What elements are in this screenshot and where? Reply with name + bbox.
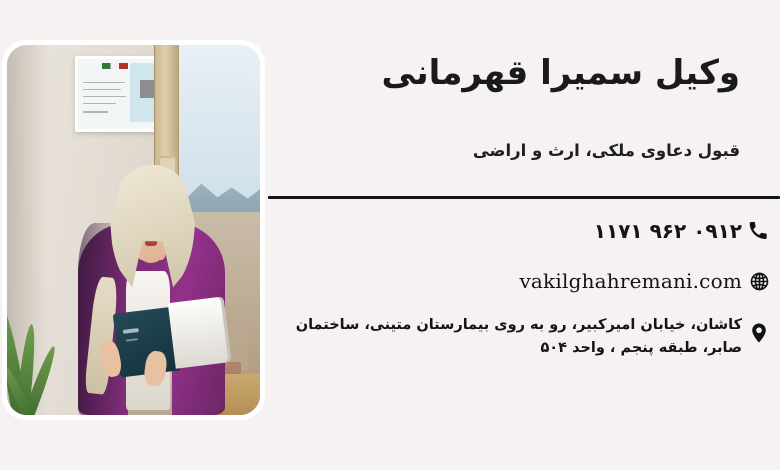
card-content: وکیل سمیرا قهرمانی قبول دعاوی ملکی، ارث … — [268, 0, 780, 470]
contact-row-phone[interactable]: ۰۹۱۲ ۹۶۲ ۱۱۷۱ — [268, 214, 780, 248]
divider — [268, 196, 780, 199]
open-book — [112, 297, 231, 379]
map-pin-icon — [742, 316, 776, 350]
photo-card — [2, 40, 265, 420]
person — [78, 149, 225, 415]
certificate-text-line — [83, 82, 124, 84]
contact-row-website[interactable]: vakilghahremani.com — [268, 264, 780, 298]
certificate-text-line — [83, 89, 121, 91]
certificate-text-line — [83, 96, 126, 98]
contact-list: ۰۹۱۲ ۹۶۲ ۱۱۷۱ vakilghahremani.com — [268, 214, 780, 377]
phone-icon — [742, 214, 776, 248]
certificate-text-line — [83, 103, 116, 105]
globe-icon — [742, 264, 776, 298]
book-subtitle-mark — [125, 338, 137, 342]
contact-row-address[interactable]: کاشان، خیابان امیرکبیر، رو به روی بیمارس… — [268, 314, 780, 361]
website-url: vakilghahremani.com — [268, 269, 742, 293]
certificate-text-line — [83, 111, 107, 113]
book-title-mark — [123, 328, 139, 334]
business-card: وکیل سمیرا قهرمانی قبول دعاوی ملکی، ارث … — [0, 0, 780, 470]
houseplant — [7, 297, 73, 415]
subtitle: قبول دعاوی ملکی، ارث و اراضی — [473, 140, 740, 161]
phone-number: ۰۹۱۲ ۹۶۲ ۱۱۷۱ — [268, 219, 742, 243]
certificate-photo — [140, 80, 154, 98]
book-pages — [168, 297, 231, 370]
page-title: وکیل سمیرا قهرمانی — [381, 52, 740, 95]
address-text: کاشان، خیابان امیرکبیر، رو به روی بیمارس… — [268, 314, 742, 361]
flag-icon — [102, 63, 128, 69]
lawyer-photo — [7, 45, 260, 415]
